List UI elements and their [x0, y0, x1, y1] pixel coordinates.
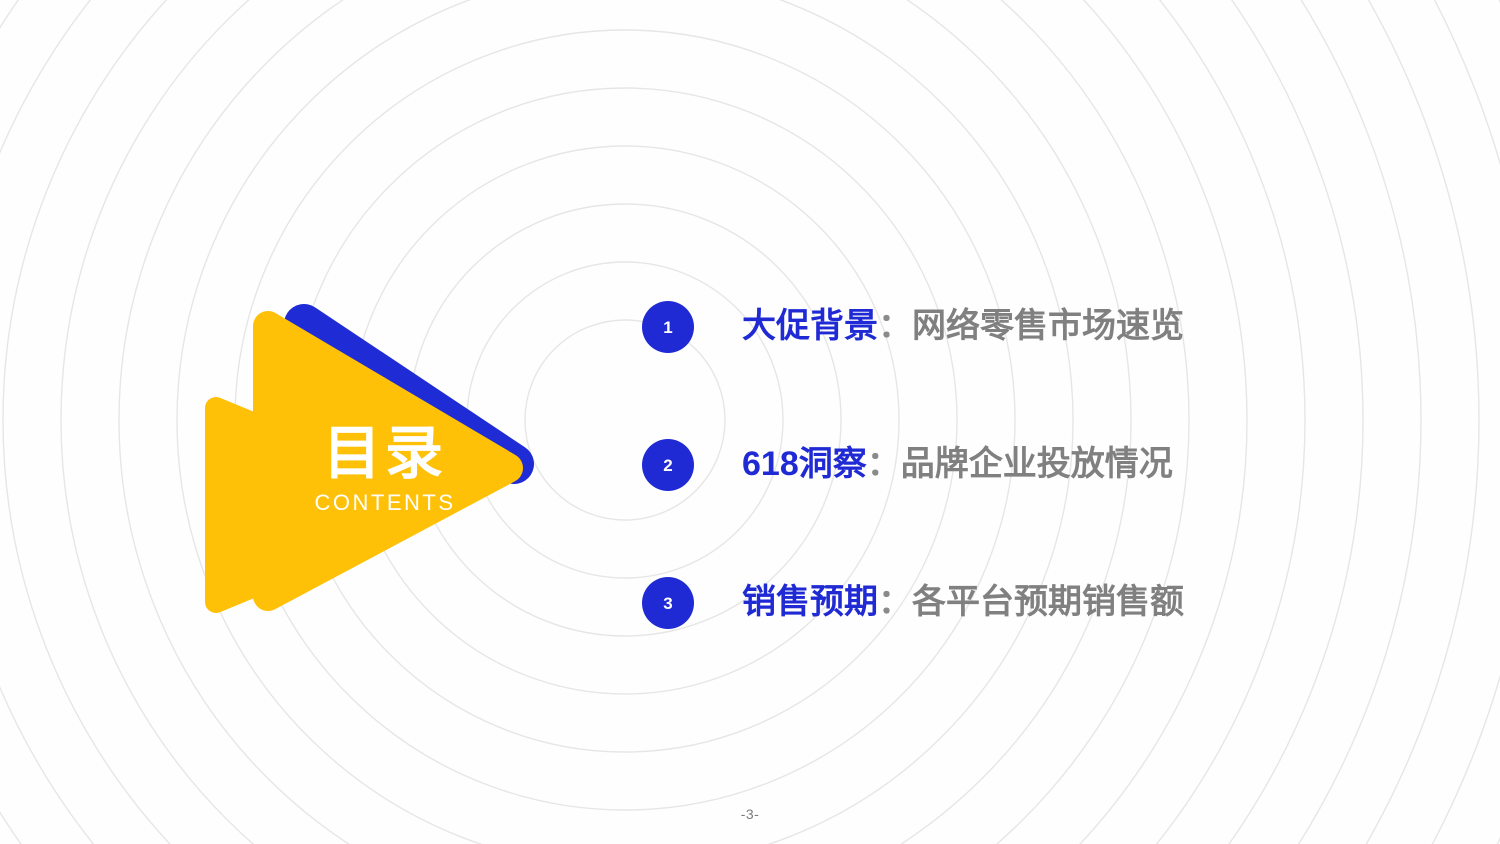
logo-text: 目录 CONTENTS: [196, 296, 536, 626]
contents-item-3-key: 销售预期: [742, 583, 878, 621]
contents-item-1-key: 大促背景: [742, 307, 878, 345]
contents-item-1-label: 大促背景：网络零售市场速览: [742, 308, 1184, 345]
contents-item-2-number-badge: 2: [642, 439, 694, 491]
page-number: -3-: [0, 806, 1500, 822]
contents-item-1-separator: ：: [878, 307, 912, 345]
contents-item-3-number-badge: 3: [642, 577, 694, 629]
logo-subtitle: CONTENTS: [315, 490, 456, 516]
contents-item-2[interactable]: 2 618洞察：品牌企业投放情况: [642, 439, 1342, 491]
contents-item-1[interactable]: 1 大促背景：网络零售市场速览: [642, 301, 1342, 353]
contents-item-3-label: 销售预期：各平台预期销售额: [742, 584, 1184, 621]
contents-logo: 目录 CONTENTS: [196, 296, 536, 626]
contents-item-3-separator: ：: [878, 583, 912, 621]
contents-item-2-separator: ：: [867, 445, 901, 483]
contents-item-3[interactable]: 3 销售预期：各平台预期销售额: [642, 577, 1342, 629]
contents-item-2-description: 品牌企业投放情况: [901, 445, 1173, 483]
contents-item-2-key: 618洞察: [742, 445, 867, 483]
contents-item-1-number-badge: 1: [642, 301, 694, 353]
logo-title: 目录: [323, 424, 447, 485]
contents-item-3-description: 各平台预期销售额: [912, 583, 1184, 621]
contents-slide: 目录 CONTENTS 1 大促背景：网络零售市场速览 2 618洞察：品牌企业…: [0, 0, 1500, 844]
contents-item-1-description: 网络零售市场速览: [912, 307, 1184, 345]
contents-list: 1 大促背景：网络零售市场速览 2 618洞察：品牌企业投放情况 3 销售预期：…: [642, 301, 1342, 629]
contents-item-2-label: 618洞察：品牌企业投放情况: [742, 446, 1173, 483]
